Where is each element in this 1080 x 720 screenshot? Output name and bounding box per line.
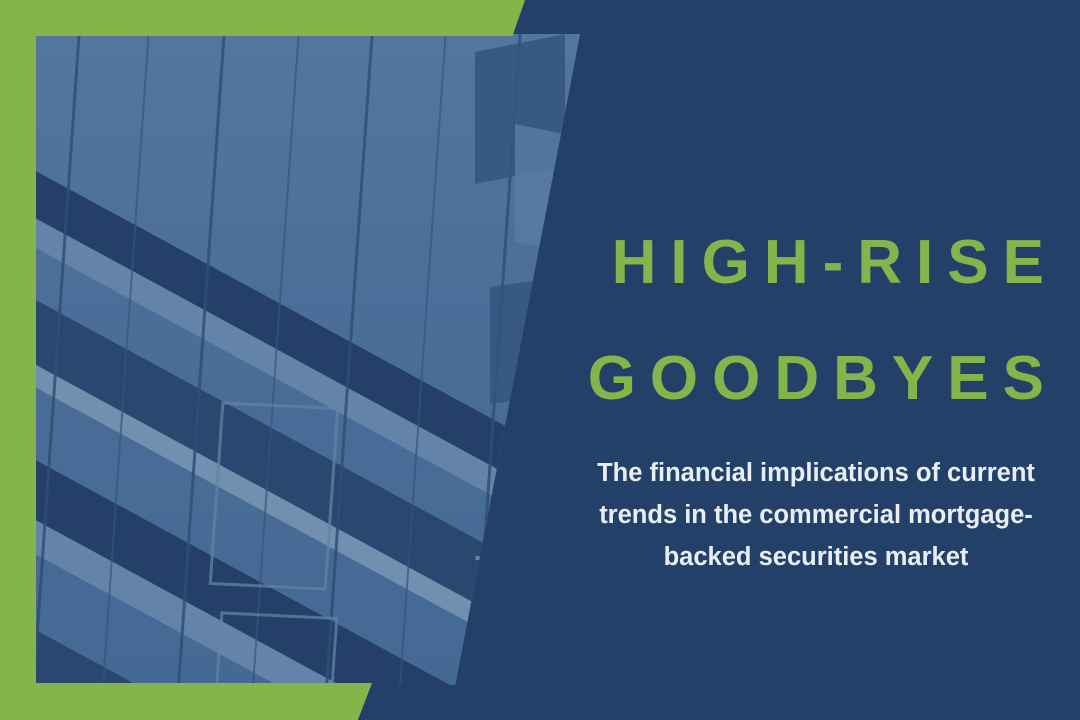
balcony-railing <box>475 556 565 572</box>
title-line-2: GOODBYES <box>518 321 1058 437</box>
title-line-1: HIGH-RISE <box>518 205 1058 321</box>
building-photo <box>35 34 580 685</box>
green-top-bar <box>0 0 525 36</box>
green-bottom-bar <box>0 683 372 720</box>
poster-canvas: HIGH-RISE GOODBYES The financial implica… <box>0 0 1080 720</box>
poster-title: HIGH-RISE GOODBYES <box>518 205 1058 437</box>
photo-color-overlay <box>35 34 580 685</box>
green-left-bar <box>0 0 36 700</box>
poster-subtitle: The financial implications of current tr… <box>572 452 1060 578</box>
